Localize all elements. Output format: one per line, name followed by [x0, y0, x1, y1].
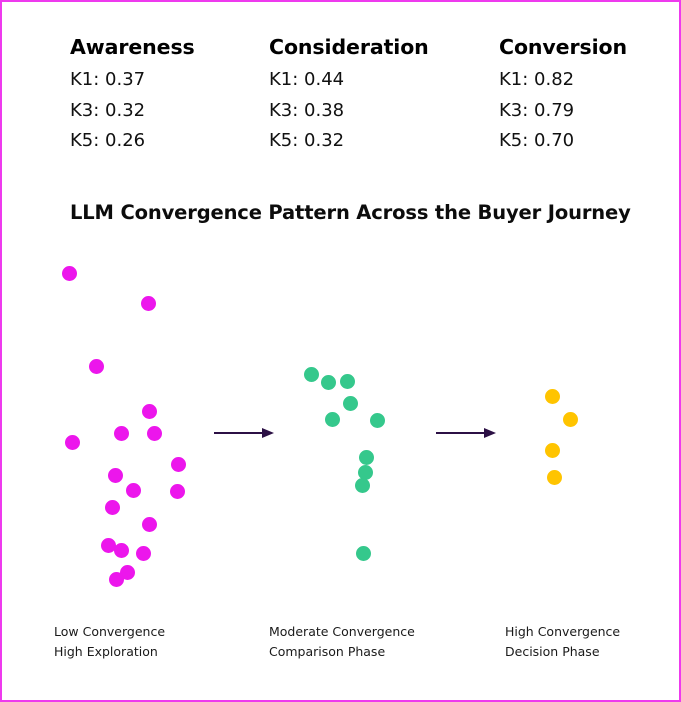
caption-consideration: Moderate Convergence Comparison Phase	[269, 622, 415, 662]
metric-row-k3: K3: 0.79	[499, 96, 627, 127]
scatter-point-awareness	[109, 572, 124, 587]
metric-title-consideration: Consideration	[269, 34, 429, 60]
scatter-point-awareness	[171, 457, 186, 472]
scatter-point-awareness	[141, 296, 156, 311]
scatter-point-awareness	[114, 426, 129, 441]
scatter-point-consideration	[359, 450, 374, 465]
metric-row-k5: K5: 0.26	[70, 126, 195, 157]
caption-line-1: Moderate Convergence	[269, 622, 415, 642]
scatter-point-conversion	[563, 412, 578, 427]
scatter-point-consideration	[304, 367, 319, 382]
caption-line-2: Comparison Phase	[269, 642, 415, 662]
metric-row-k5: K5: 0.32	[269, 126, 429, 157]
metric-row-k5: K5: 0.70	[499, 126, 627, 157]
scatter-point-awareness	[126, 483, 141, 498]
caption-awareness: Low Convergence High Exploration	[54, 622, 165, 662]
caption-line-1: High Convergence	[505, 622, 620, 642]
metric-column-conversion: Conversion K1: 0.82 K3: 0.79 K5: 0.70	[499, 34, 627, 157]
scatter-point-awareness	[136, 546, 151, 561]
scatter-point-awareness	[65, 435, 80, 450]
scatter-point-awareness	[147, 426, 162, 441]
scatter-point-conversion	[545, 443, 560, 458]
chart-title: LLM Convergence Pattern Across the Buyer…	[70, 201, 631, 224]
scatter-point-consideration	[325, 412, 340, 427]
scatter-point-consideration	[343, 396, 358, 411]
metric-title-conversion: Conversion	[499, 34, 627, 60]
caption-line-2: Decision Phase	[505, 642, 620, 662]
metric-row-k3: K3: 0.32	[70, 96, 195, 127]
convergence-figure: Awareness K1: 0.37 K3: 0.32 K5: 0.26 Con…	[0, 0, 681, 702]
scatter-point-conversion	[547, 470, 562, 485]
scatter-point-awareness	[114, 543, 129, 558]
metric-row-k1: K1: 0.82	[499, 65, 627, 96]
scatter-point-awareness	[89, 359, 104, 374]
scatter-point-awareness	[62, 266, 77, 281]
caption-line-1: Low Convergence	[54, 622, 165, 642]
scatter-point-awareness	[142, 404, 157, 419]
metric-rows-conversion: K1: 0.82 K3: 0.79 K5: 0.70	[499, 65, 627, 157]
arrow-awareness-to-consideration	[214, 424, 280, 442]
scatter-point-consideration	[321, 375, 336, 390]
scatter-point-consideration	[355, 478, 370, 493]
scatter-point-consideration	[370, 413, 385, 428]
metric-title-awareness: Awareness	[70, 34, 195, 60]
scatter-point-awareness	[108, 468, 123, 483]
scatter-point-conversion	[545, 389, 560, 404]
metric-rows-consideration: K1: 0.44 K3: 0.38 K5: 0.32	[269, 65, 429, 157]
scatter-point-awareness	[170, 484, 185, 499]
scatter-point-consideration	[356, 546, 371, 561]
metric-row-k1: K1: 0.37	[70, 65, 195, 96]
scatter-point-awareness	[142, 517, 157, 532]
arrow-consideration-to-conversion	[436, 424, 502, 442]
metrics-header: Awareness K1: 0.37 K3: 0.32 K5: 0.26 Con…	[2, 34, 681, 164]
caption-line-2: High Exploration	[54, 642, 165, 662]
metric-column-consideration: Consideration K1: 0.44 K3: 0.38 K5: 0.32	[269, 34, 429, 157]
caption-conversion: High Convergence Decision Phase	[505, 622, 620, 662]
metric-rows-awareness: K1: 0.37 K3: 0.32 K5: 0.26	[70, 65, 195, 157]
metric-column-awareness: Awareness K1: 0.37 K3: 0.32 K5: 0.26	[70, 34, 195, 157]
scatter-point-consideration	[340, 374, 355, 389]
metric-row-k1: K1: 0.44	[269, 65, 429, 96]
metric-row-k3: K3: 0.38	[269, 96, 429, 127]
scatter-point-awareness	[105, 500, 120, 515]
